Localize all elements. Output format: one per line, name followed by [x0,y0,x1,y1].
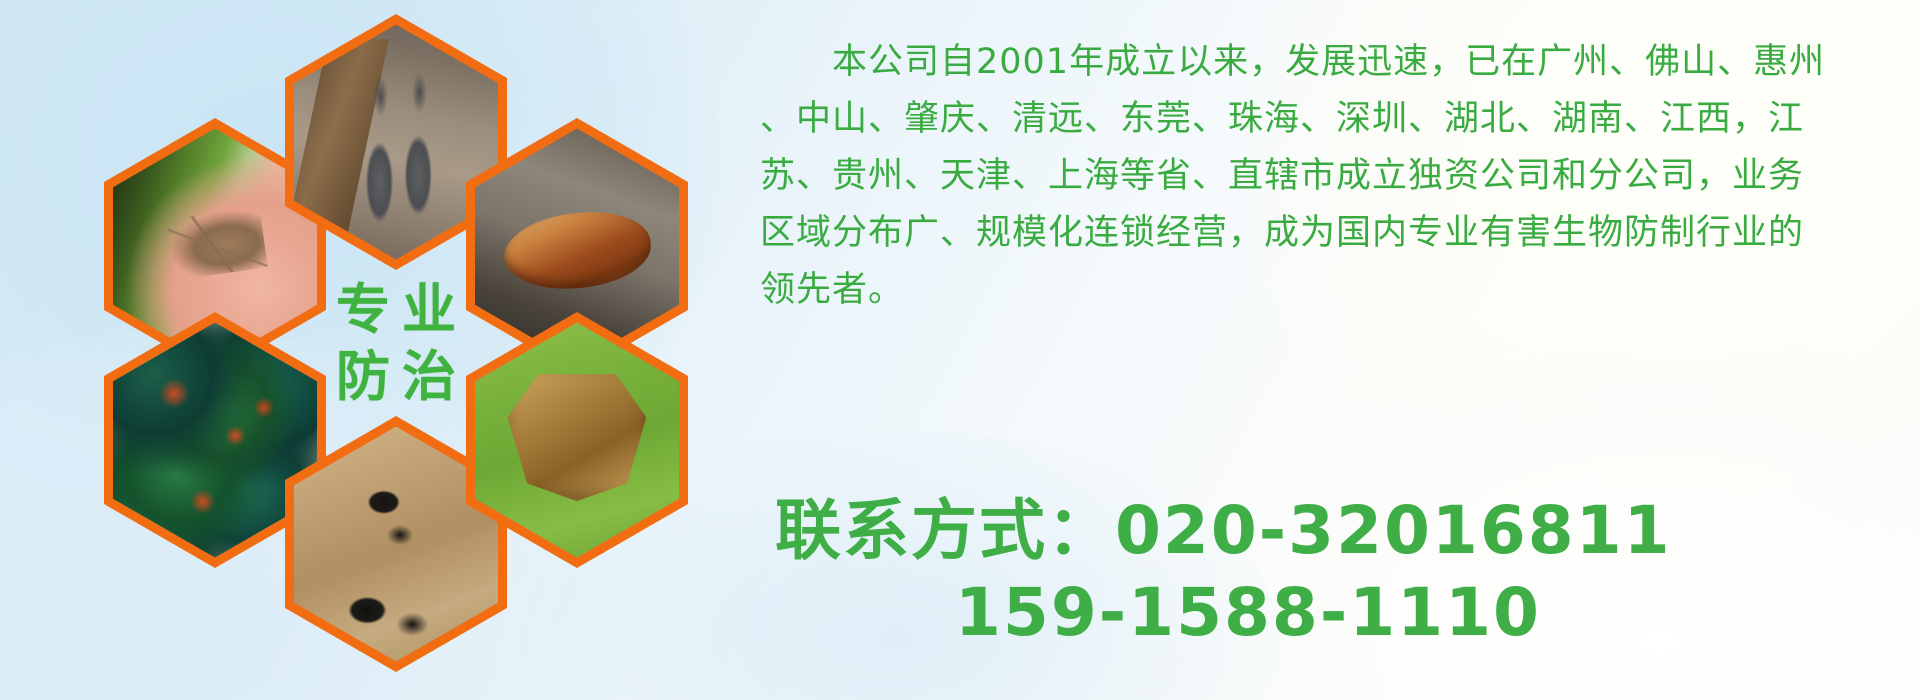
slogan-line-2: 防治 [324,343,468,411]
contact-block: 联系方式：020-32016811 159-1588-1110 [775,490,1875,654]
paragraph-body: 本公司自2001年成立以来，发展迅速，已在广州、佛山、惠州 、中山、肇庆、清远、… [760,34,1890,319]
paragraph-line-3: 苏、贵州、天津、上海等省、直辖市成立独资公司和分公司，业务 [760,148,1890,205]
slogan-line-1: 专业 [324,276,468,344]
honeycomb-collage: 专业 防治 [96,0,696,700]
paragraph-line-1: 本公司自2001年成立以来，发展迅速，已在广州、佛山、惠州 [760,34,1890,91]
promo-banner: 专业 防治 本公司自2001年成立以来，发展迅速，已在广州、佛山、惠州 、中山、… [0,0,1920,700]
company-intro-paragraph: 本公司自2001年成立以来，发展迅速，已在广州、佛山、惠州 、中山、肇庆、清远、… [760,34,1890,319]
contact-landline[interactable]: 联系方式：020-32016811 [775,490,1875,572]
contact-mobile[interactable]: 159-1588-1110 [775,572,1875,654]
paragraph-line-2: 、中山、肇庆、清远、东莞、珠海、深圳、湖北、湖南、江西，江 [760,91,1890,148]
paragraph-line-5: 领先者。 [760,262,1890,319]
paragraph-line-4: 区域分布广、规模化连锁经营，成为国内专业有害生物防制行业的 [760,205,1890,262]
